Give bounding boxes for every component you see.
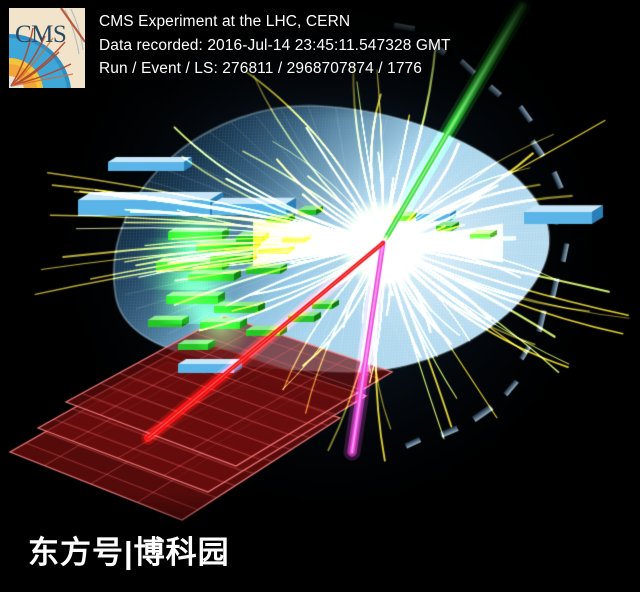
- header-line-experiment: CMS Experiment at the LHC, CERN: [99, 10, 629, 34]
- header-text-block: CMS Experiment at the LHC, CERN Data rec…: [99, 10, 629, 81]
- header-line-run-event-ls: Run / Event / LS: 276811 / 2968707874 / …: [99, 57, 629, 81]
- header-line-data-recorded: Data recorded: 2016-Jul-14 23:45:11.5473…: [99, 34, 629, 58]
- cms-logo-text: CMS: [15, 21, 66, 48]
- event-info-header: CMS CMS Experiment at the LHC, CERN Data…: [0, 0, 640, 100]
- cms-event-display-image: CMS CMS Experiment at the LHC, CERN Data…: [0, 0, 640, 592]
- cms-collaboration-logo: CMS: [9, 8, 85, 88]
- cms-logo-graphic: CMS: [9, 8, 85, 88]
- source-watermark: 东方号|博科园: [28, 537, 230, 568]
